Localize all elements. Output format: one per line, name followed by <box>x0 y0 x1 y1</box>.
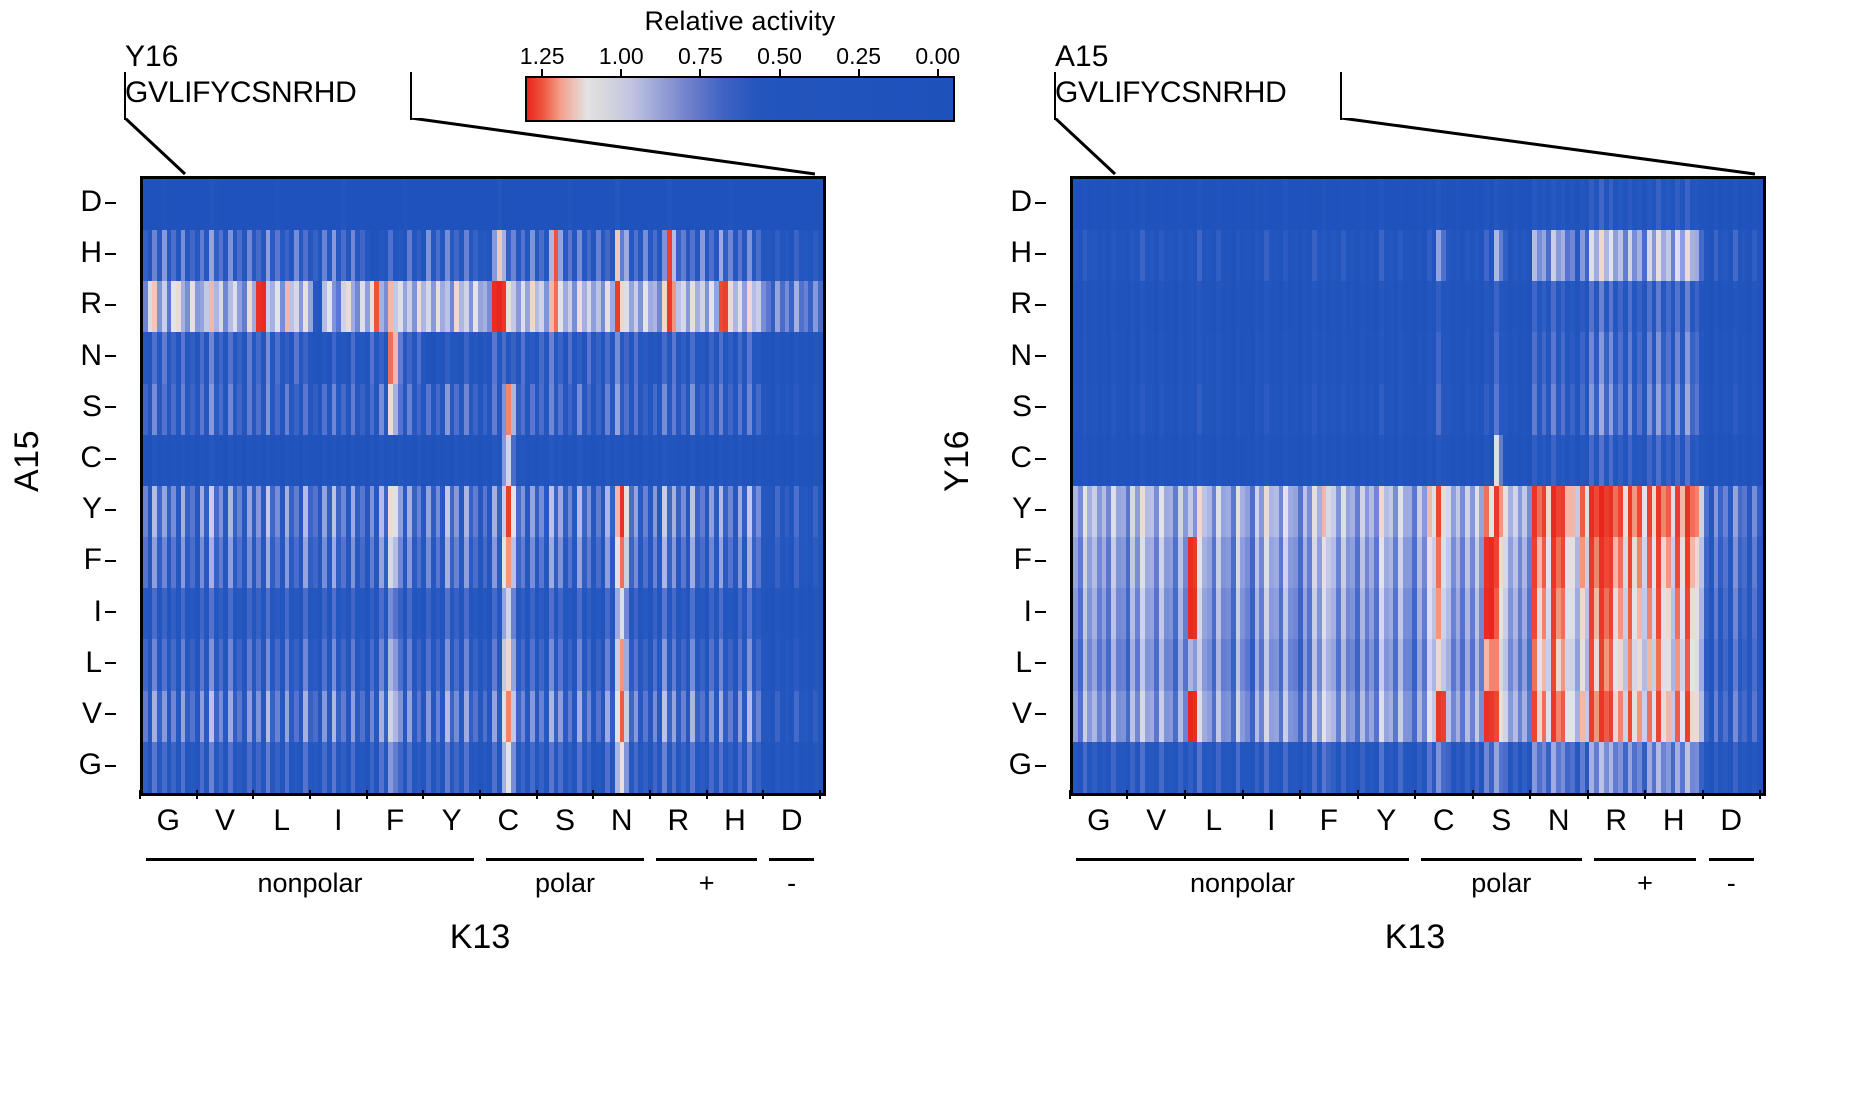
heatmap-row <box>143 537 823 588</box>
heatmap-row <box>1073 332 1763 383</box>
x-tick-label: I <box>334 804 342 838</box>
x-tick-mark <box>196 790 198 799</box>
heatmap-cell <box>1757 742 1762 793</box>
y-tick-label: D <box>58 176 102 227</box>
x-group-label: - <box>787 868 796 899</box>
top-annotation-label-right: A15 <box>1055 40 1108 74</box>
x-tick-labels-right: GVLIFYCSNRHD <box>1070 804 1760 838</box>
y-tick-label: Y <box>988 483 1032 534</box>
annotation-diagonals-left <box>125 118 815 176</box>
x-group-bars-left <box>140 858 820 861</box>
heatmap-row <box>1073 384 1763 435</box>
x-tick-labels-left: GVLIFYCSNRHD <box>140 804 820 838</box>
x-tick-mark <box>536 790 538 799</box>
y-tick-label: I <box>58 586 102 637</box>
x-tick-label: L <box>1205 804 1222 838</box>
x-tick-label: L <box>273 804 290 838</box>
x-group-label: polar <box>1471 868 1531 899</box>
y-axis-title-right: Y16 <box>938 430 977 492</box>
x-tick-mark <box>1069 790 1071 799</box>
y-tick-label: Y <box>58 483 102 534</box>
x-tick-label: Y <box>1376 804 1396 838</box>
heatmap-row <box>1073 281 1763 332</box>
heatmap-grid-left <box>140 176 826 796</box>
heatmap-cell <box>818 588 823 639</box>
heatmap-cell <box>818 281 823 332</box>
heatmap-cell <box>818 230 823 281</box>
x-tick-mark <box>1472 790 1474 799</box>
heatmap-row <box>143 486 823 537</box>
x-group-labels-right: nonpolarpolar+- <box>1070 868 1760 900</box>
heatmap-row <box>143 588 823 639</box>
x-tick-mark <box>1126 790 1128 799</box>
x-tick-mark <box>706 790 708 799</box>
x-group-labels-left: nonpolarpolar+- <box>140 868 820 900</box>
y-tick-label: D <box>988 176 1032 227</box>
x-group-label: + <box>699 868 715 899</box>
heatmap-row <box>1073 691 1763 742</box>
x-tick-label: I <box>1267 804 1275 838</box>
x-tick-label: C <box>1433 804 1455 838</box>
heatmap-cell <box>1757 639 1762 690</box>
x-tick-mark <box>1184 790 1186 799</box>
x-group-label: - <box>1727 868 1736 899</box>
x-tick-label: F <box>1320 804 1338 838</box>
x-tick-mark <box>762 790 764 799</box>
annotation-bracket-left-right <box>1054 72 1056 120</box>
heatmap-cell <box>1757 486 1762 537</box>
x-tick-mark <box>1529 790 1531 799</box>
x-tick-label: Y <box>442 804 462 838</box>
x-tick-mark <box>139 790 141 799</box>
heatmap-row <box>1073 435 1763 486</box>
heatmap-cell <box>818 537 823 588</box>
x-tick-label: C <box>497 804 519 838</box>
x-tick-mark <box>1587 790 1589 799</box>
x-tick-label: H <box>1663 804 1685 838</box>
heatmap-cell <box>818 639 823 690</box>
heatmap-cell <box>818 384 823 435</box>
heatmap-cell <box>1757 588 1762 639</box>
x-tick-label: F <box>386 804 404 838</box>
x-ticks-right <box>1070 790 1760 799</box>
y-tick-labels-right: DHRNSCYFILVG <box>988 176 1032 790</box>
x-tick-mark <box>1357 790 1359 799</box>
heatmap-cell <box>1757 281 1762 332</box>
y-axis-title-left: A15 <box>8 430 47 492</box>
x-tick-label: N <box>1548 804 1570 838</box>
x-tick-label: V <box>1146 804 1166 838</box>
x-group-bars-right <box>1070 858 1760 861</box>
x-tick-mark <box>1702 790 1704 799</box>
x-tick-mark <box>1759 790 1761 799</box>
heatmap-grid-right <box>1070 176 1766 796</box>
heatmap-cell <box>1757 384 1762 435</box>
y-tick-label: G <box>988 739 1032 790</box>
heatmap-row <box>1073 639 1763 690</box>
heatmap-row <box>1073 742 1763 793</box>
x-tick-label: G <box>157 804 180 838</box>
y-tick-label: C <box>58 432 102 483</box>
x-tick-label: R <box>1605 804 1627 838</box>
heatmap-panel-left: A15 DHRNSCYFILVG Y16 GVLIFYCSNRHD GVLIFY… <box>0 0 930 1101</box>
y-tick-label: V <box>58 688 102 739</box>
heatmap-cell <box>1757 537 1762 588</box>
heatmap-row <box>143 230 823 281</box>
y-tick-label: N <box>988 330 1032 381</box>
heatmap-cell <box>1757 435 1762 486</box>
heatmap-cell <box>818 179 823 230</box>
heatmap-panel-right: Y16 DHRNSCYFILVG A15 GVLIFYCSNRHD GVLIFY… <box>930 0 1870 1101</box>
x-tick-label: S <box>555 804 575 838</box>
heatmap-row <box>143 281 823 332</box>
heatmap-row <box>143 742 823 793</box>
y-tick-label: F <box>988 534 1032 585</box>
y-tick-label: L <box>58 637 102 688</box>
y-tick-label: L <box>988 637 1032 688</box>
heatmap-row <box>1073 486 1763 537</box>
y-tick-label: F <box>58 534 102 585</box>
y-tick-label: H <box>58 227 102 278</box>
x-tick-label: H <box>724 804 746 838</box>
x-tick-mark <box>422 790 424 799</box>
figure-root: Relative activity 1.251.000.750.500.250.… <box>0 0 1870 1101</box>
top-annotation-label-left: Y16 <box>125 40 178 74</box>
top-annotation-sequence-left: GVLIFYCSNRHD <box>125 76 356 110</box>
x-tick-mark <box>309 790 311 799</box>
x-tick-label: N <box>611 804 633 838</box>
x-group-bar <box>656 858 757 861</box>
x-tick-label: G <box>1087 804 1110 838</box>
heatmap-row <box>143 639 823 690</box>
y-tick-labels-left: DHRNSCYFILVG <box>58 176 102 790</box>
x-group-bar <box>486 858 644 861</box>
annotation-bracket-left-left <box>124 72 126 120</box>
y-tick-label: V <box>988 688 1032 739</box>
x-group-label: polar <box>535 868 595 899</box>
x-tick-label: V <box>215 804 235 838</box>
annotation-bracket-right-right <box>1340 72 1342 120</box>
x-ticks-left <box>140 790 820 799</box>
x-tick-mark <box>1299 790 1301 799</box>
heatmap-cell <box>818 486 823 537</box>
heatmap-row <box>1073 179 1763 230</box>
heatmap-row <box>143 384 823 435</box>
x-group-label: nonpolar <box>1190 868 1295 899</box>
y-tick-label: R <box>988 278 1032 329</box>
y-tick-label: N <box>58 330 102 381</box>
heatmap-row <box>1073 588 1763 639</box>
x-group-label: nonpolar <box>257 868 362 899</box>
y-tick-label: C <box>988 432 1032 483</box>
heatmap-row <box>143 179 823 230</box>
heatmap-row <box>143 435 823 486</box>
heatmap-cell <box>1757 179 1762 230</box>
y-tick-label: S <box>988 381 1032 432</box>
heatmap-cell <box>818 742 823 793</box>
heatmap-cell <box>1757 691 1762 742</box>
heatmap-cell <box>818 691 823 742</box>
x-tick-mark <box>1414 790 1416 799</box>
heatmap-cell <box>818 435 823 486</box>
x-tick-mark <box>366 790 368 799</box>
heatmap-row <box>1073 537 1763 588</box>
x-tick-mark <box>1242 790 1244 799</box>
x-tick-mark <box>1644 790 1646 799</box>
x-tick-mark <box>252 790 254 799</box>
heatmap-row <box>1073 230 1763 281</box>
y-tick-label: G <box>58 739 102 790</box>
x-group-bar <box>769 858 814 861</box>
x-tick-mark <box>819 790 821 799</box>
heatmap-cell <box>1757 230 1762 281</box>
x-axis-title-left: K13 <box>450 918 511 957</box>
x-axis-title-right: K13 <box>1385 918 1446 957</box>
annotation-bracket-right-left <box>410 72 412 120</box>
y-tick-label: I <box>988 586 1032 637</box>
x-tick-label: D <box>1720 804 1742 838</box>
y-tick-label: S <box>58 381 102 432</box>
x-tick-label: D <box>781 804 803 838</box>
x-tick-mark <box>592 790 594 799</box>
x-tick-mark <box>649 790 651 799</box>
heatmap-row <box>143 691 823 742</box>
x-tick-label: S <box>1491 804 1511 838</box>
y-tick-label: H <box>988 227 1032 278</box>
x-group-bar <box>1076 858 1409 861</box>
x-tick-mark <box>479 790 481 799</box>
heatmap-cell <box>818 332 823 383</box>
x-group-bar <box>1594 858 1697 861</box>
annotation-diagonals-right <box>1055 118 1755 176</box>
x-group-label: + <box>1637 868 1653 899</box>
top-annotation-sequence-right: GVLIFYCSNRHD <box>1055 76 1286 110</box>
x-group-bar <box>146 858 474 861</box>
heatmap-row <box>143 332 823 383</box>
y-tick-label: R <box>58 278 102 329</box>
x-tick-label: R <box>667 804 689 838</box>
x-group-bar <box>1709 858 1754 861</box>
x-group-bar <box>1421 858 1582 861</box>
heatmap-cell <box>1757 332 1762 383</box>
